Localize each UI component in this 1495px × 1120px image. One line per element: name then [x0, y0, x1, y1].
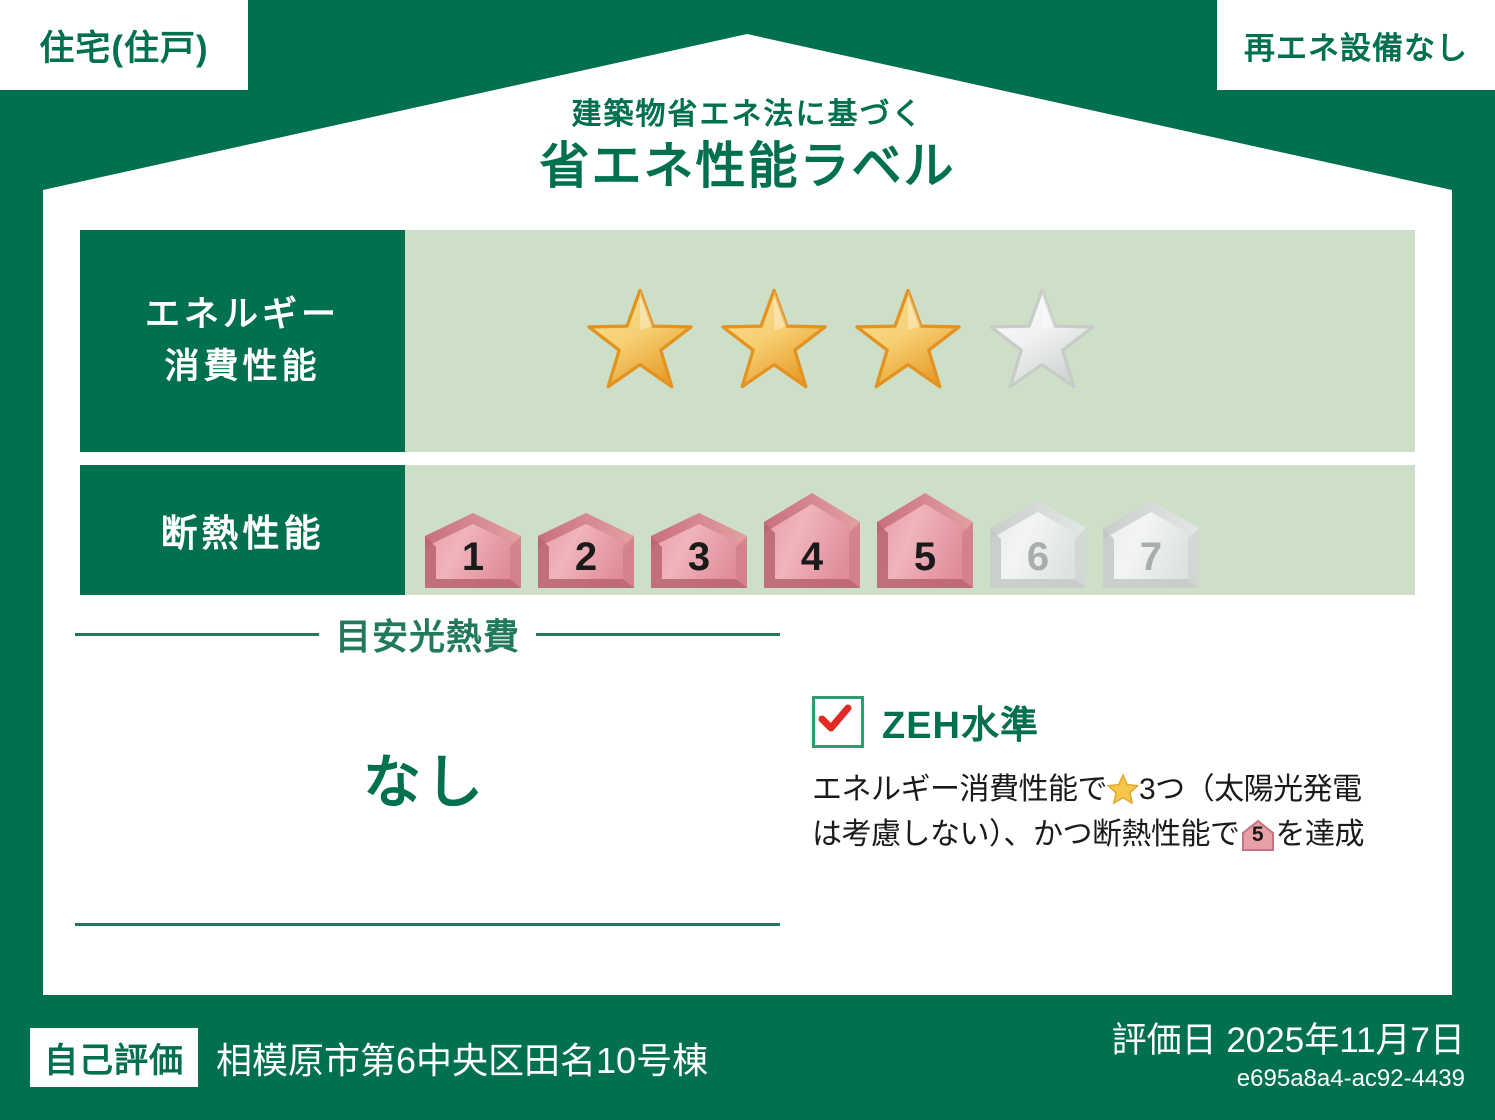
footer-left: 自己評価 相模原市第6中央区田名10号棟: [30, 1028, 708, 1087]
star-filled-icon: [853, 286, 963, 396]
insulation-performance-value: 1234567: [405, 465, 1415, 595]
self-evaluation-badge: 自己評価: [30, 1028, 198, 1087]
insulation-level-active: 5: [871, 490, 979, 588]
utility-cost-title: 目安光熱費: [319, 608, 536, 660]
inline-house-level: 5: [1240, 819, 1276, 851]
zeh-standard-block: ZEH水準 エネルギー消費性能で 3つ（太陽光発電 は考慮しない）、かつ断熱性能…: [812, 694, 1432, 857]
inline-house-icon: 5: [1240, 816, 1276, 852]
energy-performance-value: [405, 230, 1415, 452]
insulation-level-active: 2: [532, 510, 640, 588]
insulation-level-active: 3: [645, 510, 753, 588]
heading-rule-right: [536, 633, 780, 636]
energy-performance-row: エネルギー 消費性能: [80, 230, 1415, 452]
dwelling-type-label: 住宅(住戸): [39, 20, 208, 71]
star-empty-icon: [987, 286, 1097, 396]
renewable-equipment-tag: 再エネ設備なし: [1217, 0, 1495, 90]
star-filled-icon: [585, 286, 695, 396]
utility-bottom-rule: [75, 923, 780, 926]
zeh-title-row: ZEH水準: [812, 694, 1432, 749]
renewable-equipment-label: 再エネ設備なし: [1244, 23, 1468, 68]
zeh-desc-part-1: エネルギー消費性能で: [812, 773, 1107, 806]
insulation-performance-row: 断熱性能 1234567: [80, 465, 1415, 595]
zeh-desc-part-4: を達成: [1276, 818, 1365, 851]
insulation-level-active: 4: [758, 490, 866, 588]
insulation-level-inactive: 6: [984, 498, 1092, 588]
inline-star-icon: [1107, 773, 1139, 805]
title-block: 建築物省エネ法に基づく 省エネ性能ラベル: [0, 98, 1495, 198]
energy-performance-label: エネルギー 消費性能: [80, 230, 405, 452]
zeh-title: ZEH水準: [882, 694, 1039, 749]
evaluation-date: 評価日 2025年11月7日: [1112, 1021, 1465, 1061]
insulation-level-number: 5: [871, 535, 979, 580]
insulation-performance-label: 断熱性能: [80, 465, 405, 595]
zeh-checkbox-checked-icon: [812, 696, 864, 748]
insulation-level-number: 1: [419, 535, 527, 580]
insulation-level-number: 6: [984, 535, 1092, 580]
insulation-level-number: 3: [645, 535, 753, 580]
dwelling-type-tag: 住宅(住戸): [0, 0, 248, 90]
insulation-level-number: 4: [758, 535, 866, 580]
insulation-scale: 1234567: [419, 458, 1205, 602]
label-id: e695a8a4-ac92-4439: [1112, 1063, 1465, 1094]
insulation-level-number: 2: [532, 535, 640, 580]
footer: 自己評価 相模原市第6中央区田名10号棟 評価日 2025年11月7日 e695…: [0, 995, 1495, 1120]
heading-rule-left: [75, 633, 319, 636]
title-subtitle: 建築物省エネ法に基づく: [0, 98, 1495, 131]
building-name: 相模原市第6中央区田名10号棟: [216, 1032, 708, 1084]
insulation-level-inactive: 7: [1097, 498, 1205, 588]
insulation-level-active: 1: [419, 510, 527, 588]
star-filled-icon: [719, 286, 829, 396]
insulation-label-text: 断熱性能: [161, 503, 325, 557]
utility-cost-value: なし: [75, 735, 775, 819]
insulation-level-number: 7: [1097, 535, 1205, 580]
energy-label-line2: 消費性能: [164, 341, 320, 394]
zeh-desc-part-2: 3つ（太陽光発電: [1139, 773, 1362, 806]
star-rating: [585, 286, 1097, 396]
energy-label-line1: エネルギー: [145, 289, 340, 342]
footer-right: 評価日 2025年11月7日 e695a8a4-ac92-4439: [1112, 1021, 1465, 1094]
utility-cost-heading: 目安光熱費: [75, 614, 780, 654]
page-title: 省エネ性能ラベル: [0, 135, 1495, 198]
zeh-desc-part-3: は考慮しない）、かつ断熱性能で: [812, 818, 1240, 851]
zeh-description: エネルギー消費性能で 3つ（太陽光発電 は考慮しない）、かつ断熱性能で 5 を達…: [812, 767, 1432, 857]
